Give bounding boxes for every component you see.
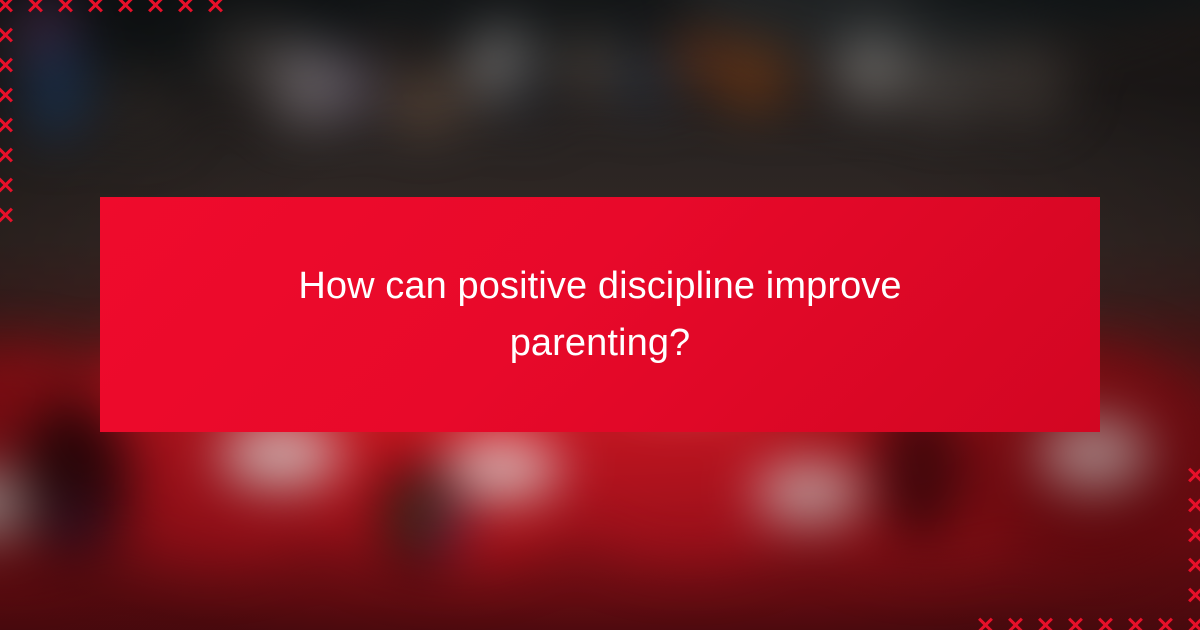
page-title: How can positive discipline improve pare… — [280, 258, 920, 370]
headline-card: How can positive discipline improve pare… — [100, 197, 1100, 432]
social-card-canvas: How can positive discipline improve pare… — [0, 0, 1200, 630]
